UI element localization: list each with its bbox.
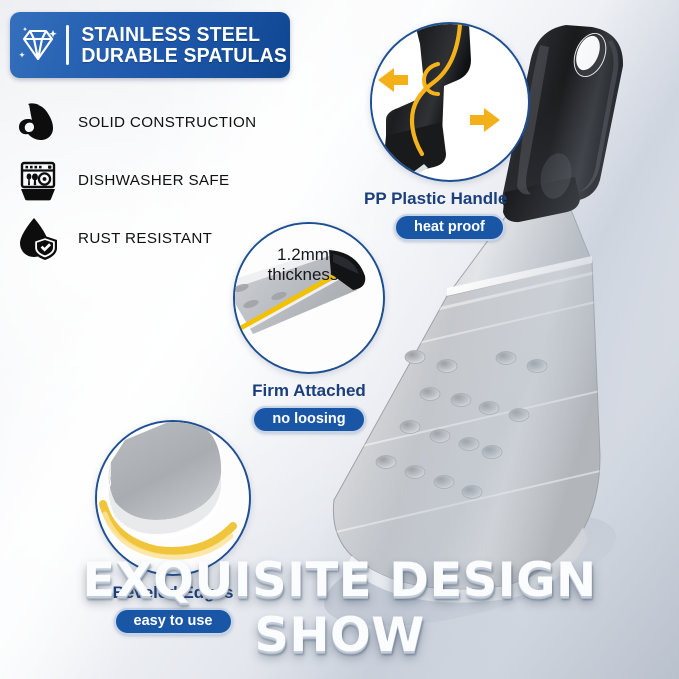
callout-pill-badge: heat proof [394, 214, 505, 241]
feature-label: DISHWASHER SAFE [78, 172, 230, 189]
feature-label: SOLID CONSTRUCTION [78, 114, 256, 131]
feature-item-rust-resistant: RUST RESISTANT [14, 214, 212, 262]
callout-caption: PP Plastic Handle [362, 189, 560, 209]
infographic-canvas: STAINLESS STEEL DURABLE SPATULAS SOLID C… [0, 0, 679, 679]
dishwasher-icon [14, 156, 62, 204]
callout-pill-badge: no loosing [252, 406, 365, 433]
feature-item-dishwasher-safe: DISHWASHER SAFE [14, 156, 230, 204]
blade-holes [376, 351, 547, 499]
diamond-icon [10, 24, 66, 66]
callout-firm-attached: 1.2mm thickness Firm Attached no loosing [218, 222, 400, 433]
header-badge: STAINLESS STEEL DURABLE SPATULAS [10, 12, 290, 78]
water-drop-shield-icon [14, 214, 62, 262]
badge-line-2: DURABLE SPATULAS [81, 45, 287, 66]
thickness-value: 1.2mm [277, 245, 329, 264]
banner-text: EXQUISITE DESIGN SHOW [0, 553, 679, 663]
callout-pp-plastic-handle: PP Plastic Handle heat proof [362, 22, 560, 241]
bicep-flex-icon [14, 98, 62, 146]
feature-item-solid-construction: SOLID CONSTRUCTION [14, 98, 256, 146]
callout-thickness-magnifier: 1.2mm thickness [233, 222, 385, 374]
badge-text: STAINLESS STEEL DURABLE SPATULAS [69, 24, 287, 67]
callout-handle-magnifier [370, 22, 530, 182]
thickness-word: thickness [268, 265, 339, 284]
bottom-banner: EXQUISITE DESIGN SHOW [0, 553, 679, 663]
badge-line-1: STAINLESS STEEL [81, 24, 287, 45]
feature-label: RUST RESISTANT [78, 230, 212, 247]
callout-caption: Firm Attached [218, 381, 400, 401]
